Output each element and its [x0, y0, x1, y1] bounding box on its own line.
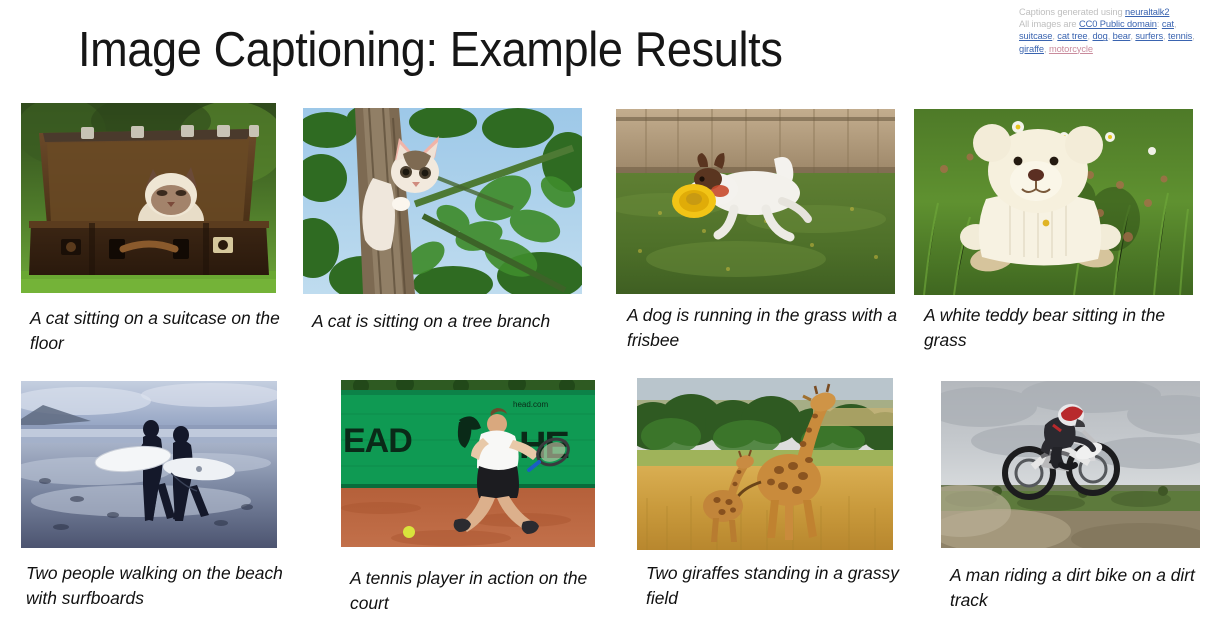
link-giraffe[interactable]: giraffe [1019, 44, 1044, 54]
caption-teddy-bear: A white teddy bear sitting in the grass [924, 303, 1204, 353]
image-dirt-bike [941, 381, 1200, 548]
photo-cat-suitcase[interactable] [21, 103, 276, 293]
caption-cat-tree: A cat is sitting on a tree branch [312, 309, 577, 334]
svg-text:head.com: head.com [513, 400, 548, 409]
image-giraffes-field [637, 378, 893, 550]
link-tennis[interactable]: tennis [1168, 31, 1192, 41]
caption-dog-frisbee: A dog is running in the grass with a fri… [627, 303, 907, 353]
caption-cat-suitcase: A cat sitting on a suitcase on the floor [30, 306, 295, 356]
photo-tennis-player[interactable]: EAD HE head.com [341, 380, 595, 547]
svg-text:EAD: EAD [343, 422, 412, 460]
slide-canvas: Captions generated using neuraltalk2 All… [0, 0, 1215, 622]
photo-giraffes-field[interactable] [637, 378, 893, 550]
credits-line1-prefix: Captions generated using [1019, 7, 1125, 17]
credits-block: Captions generated using neuraltalk2 All… [1019, 6, 1211, 55]
caption-surfers-beach: Two people walking on the beach with sur… [26, 561, 291, 611]
photo-dog-frisbee[interactable] [616, 109, 895, 294]
photo-cat-tree[interactable] [303, 108, 582, 294]
image-cat-tree [303, 108, 582, 294]
link-cat[interactable]: cat [1162, 19, 1174, 29]
link-cat-tree[interactable]: cat tree [1057, 31, 1087, 41]
caption-dirt-bike: A man riding a dirt bike on a dirt track [950, 563, 1215, 613]
image-cat-suitcase [21, 103, 276, 293]
caption-tennis-player: A tennis player in action on the court [350, 566, 620, 616]
link-suitcase[interactable]: suitcase [1019, 31, 1052, 41]
image-tennis-player: EAD HE head.com [341, 380, 595, 547]
page-title: Image Captioning: Example Results [78, 22, 783, 78]
photo-dirt-bike[interactable] [941, 381, 1200, 548]
caption-giraffes-field: Two giraffes standing in a grassy field [646, 561, 916, 611]
link-bear[interactable]: bear [1113, 31, 1131, 41]
image-dog-frisbee [616, 109, 895, 294]
link-dog[interactable]: dog [1092, 31, 1107, 41]
link-surfers[interactable]: surfers [1135, 31, 1163, 41]
photo-surfers-beach[interactable] [21, 381, 277, 548]
link-motorcycle[interactable]: motorcycle [1049, 44, 1093, 54]
image-surfers-beach [21, 381, 277, 548]
cc0-license-link[interactable]: CC0 Public domain [1079, 19, 1157, 29]
neuraltalk2-link[interactable]: neuraltalk2 [1125, 7, 1169, 17]
photo-teddy-bear[interactable] [914, 109, 1193, 295]
image-teddy-bear [914, 109, 1193, 295]
credits-line2-prefix: All images are [1019, 19, 1079, 29]
